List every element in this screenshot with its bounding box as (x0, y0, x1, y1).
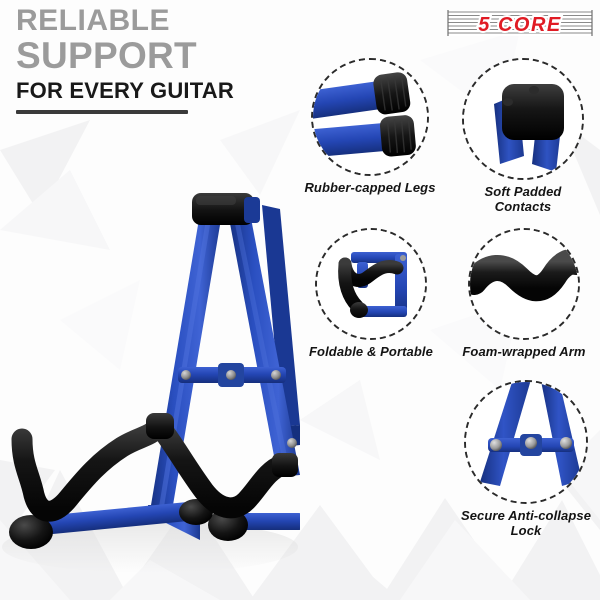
rivet (226, 370, 236, 380)
feature-caption-3: Foldable & Portable (298, 345, 444, 360)
logo-text: 5 CORE (478, 14, 561, 36)
feature-caption-1: Rubber-capped Legs (300, 181, 440, 196)
feature-rubber-capped-legs: Rubber-capped Legs (300, 58, 440, 196)
arm-end-block (272, 453, 298, 477)
feature-caption-2-line-1: Soft Padded (452, 185, 594, 200)
rivet (525, 437, 537, 449)
feature-soft-padded-contacts: Soft Padded Contacts (452, 58, 594, 214)
headline-line-3: FOR EVERY GUITAR (16, 79, 316, 102)
rivet (271, 370, 281, 380)
feature-foldable-portable: Foldable & Portable (298, 228, 444, 360)
feature-caption-2-line-2: Contacts (452, 200, 594, 215)
rivet (287, 438, 297, 448)
headline-block: RELIABLE SUPPORT FOR EVERY GUITAR (16, 6, 316, 114)
product-feature-banner: RELIABLE SUPPORT FOR EVERY GUITAR 5 CORE (0, 0, 600, 600)
headline-underline (16, 110, 188, 114)
feature-caption-5: Secure Anti-collapse Lock (452, 509, 600, 538)
rivet (181, 370, 191, 380)
guitar-stand-illustration (0, 175, 300, 600)
feature-caption-5-line-1: Secure Anti-collapse (452, 509, 600, 524)
feature-caption-2: Soft Padded Contacts (452, 185, 594, 214)
yoke-center-knuckle (146, 413, 174, 439)
headline-line-2: SUPPORT (16, 37, 316, 75)
top-padded-contact (192, 193, 260, 225)
feature-circle-1 (311, 58, 429, 176)
rivet (490, 439, 502, 451)
feature-circle-4 (468, 228, 580, 340)
rivet (560, 437, 572, 449)
brand-logo: 5 CORE (446, 7, 594, 41)
feature-circle-3 (315, 228, 427, 340)
feature-secure-anti-collapse-lock: Secure Anti-collapse Lock (452, 380, 600, 538)
folded-cap (350, 302, 368, 318)
feature-circle-5 (464, 380, 588, 504)
foam-wrapped-arms (22, 427, 282, 511)
feature-caption-4: Foam-wrapped Arm (452, 345, 596, 360)
feature-caption-5-line-2: Lock (452, 524, 600, 539)
feature-circle-2 (462, 58, 584, 180)
padded-block (502, 84, 564, 140)
headline-line-1: RELIABLE (16, 6, 316, 36)
feature-foam-wrapped-arm: Foam-wrapped Arm (452, 228, 596, 360)
